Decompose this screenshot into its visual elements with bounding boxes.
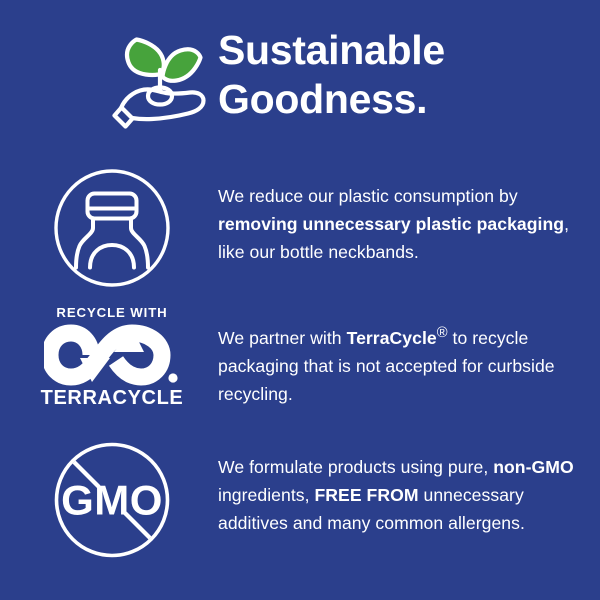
- feature-text-plastic-reduction: We reduce our plastic consumption by rem…: [218, 168, 600, 266]
- feature-text-terracycle: We partner with TerraCycle® to recycle p…: [218, 305, 600, 408]
- bottle-neckband-circle-icon: [53, 168, 171, 288]
- page-title: Sustainable Goodness.: [218, 26, 445, 124]
- sustainability-infographic: Sustainable Goodness. We reduce our plas…: [0, 0, 600, 600]
- feature-row-non-gmo: GMO We formulate products using pure, no…: [0, 440, 600, 560]
- header: Sustainable Goodness.: [0, 26, 600, 146]
- hand-holding-sprout-icon: [112, 30, 208, 134]
- terracycle-infinity-icon: [44, 324, 180, 386]
- feature-icon-cell: GMO: [0, 440, 218, 560]
- no-gmo-circle-icon: GMO: [53, 440, 171, 560]
- feature-icon-cell: RECYCLE WITH TERRACYCLE: [0, 305, 218, 409]
- terracycle-logo: RECYCLE WITH TERRACYCLE: [42, 305, 182, 409]
- feature-text-non-gmo: We formulate products using pure, non-GM…: [218, 440, 600, 537]
- terracycle-top-label: RECYCLE WITH: [56, 305, 167, 320]
- feature-row-terracycle: RECYCLE WITH TERRACYCLE We partner with …: [0, 305, 600, 409]
- terracycle-bottom-label: TERRACYCLE: [41, 387, 184, 409]
- feature-row-plastic-reduction: We reduce our plastic consumption by rem…: [0, 168, 600, 288]
- gmo-label: GMO: [61, 477, 163, 524]
- feature-icon-cell: [0, 168, 218, 288]
